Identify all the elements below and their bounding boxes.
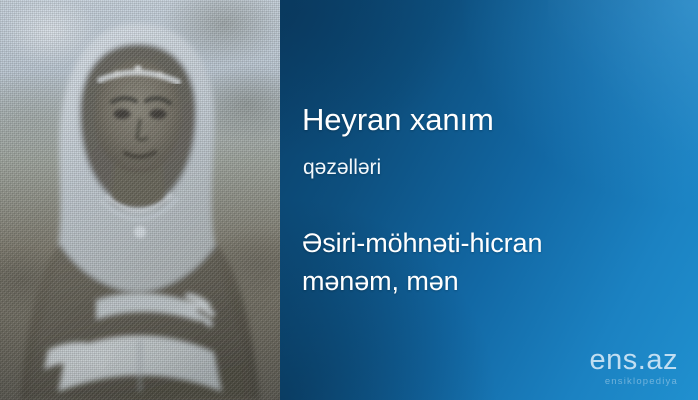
title-panel: Heyran xanım qəzəlləri Əsiri-möhnəti-hic…: [280, 0, 698, 400]
title-text-block: Heyran xanım qəzəlləri Əsiri-möhnəti-hic…: [302, 0, 682, 400]
author-name: Heyran xanım: [302, 104, 494, 137]
site-logo-wordmark: ens.az: [590, 346, 678, 375]
portrait-vignette: [0, 0, 280, 400]
genre-label: qəzəlləri: [303, 156, 381, 179]
work-title: Əsiri-möhnəti-hicran mənəm, mən: [302, 224, 542, 301]
work-title-line-1: Əsiri-möhnəti-hicran: [302, 224, 542, 262]
site-logo-tagline: ensiklopediya: [590, 377, 678, 387]
portrait-photo: [0, 0, 280, 400]
work-title-line-2: mənəm, mən: [302, 262, 542, 300]
article-banner: Heyran xanım qəzəlləri Əsiri-möhnəti-hic…: [0, 0, 698, 400]
site-logo[interactable]: ens.az ensiklopediya: [590, 346, 678, 387]
